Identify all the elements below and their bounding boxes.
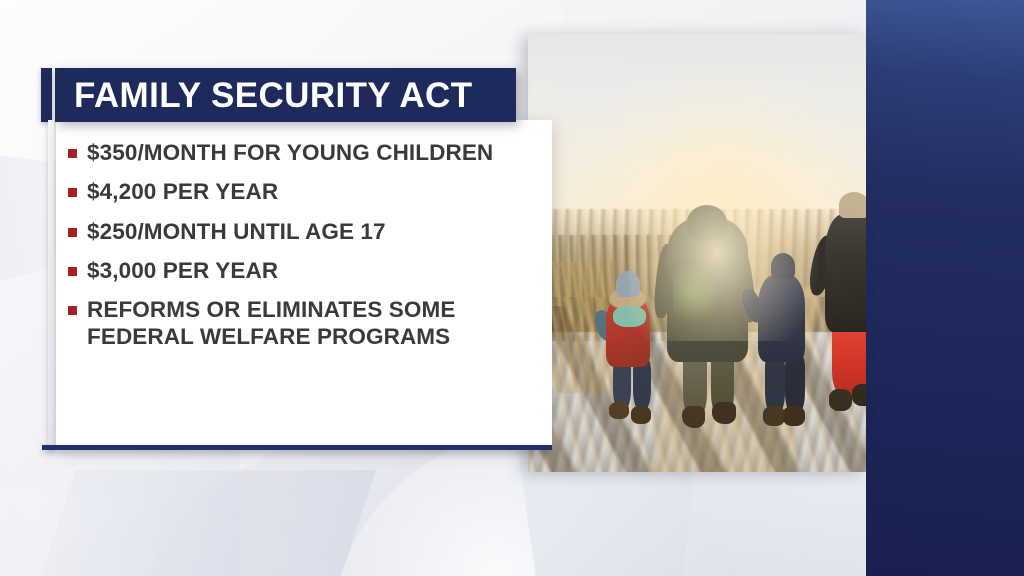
broadcast-graphic-stage: $350/MONTH FOR YOUNG CHILDREN $4,200 PER… (0, 0, 1024, 576)
list-item: $350/MONTH FOR YOUNG CHILDREN (68, 140, 548, 166)
square-bullet-icon (68, 149, 77, 158)
photo-warm-overlay (528, 34, 866, 472)
list-item: $4,200 PER YEAR (68, 179, 548, 205)
bullet-list: $350/MONTH FOR YOUNG CHILDREN $4,200 PER… (68, 140, 548, 363)
list-item-label: REFORMS OR ELIMINATES SOME FEDERAL WELFA… (87, 297, 455, 350)
list-item-label: $3,000 PER YEAR (87, 258, 278, 284)
square-bullet-icon (68, 188, 77, 197)
right-navy-band (866, 0, 1024, 576)
square-bullet-icon (68, 267, 77, 276)
list-item: $3,000 PER YEAR (68, 258, 548, 284)
headline-banner: FAMILY SECURITY ACT (55, 68, 516, 122)
square-bullet-icon (68, 306, 77, 315)
list-item: $250/MONTH UNTIL AGE 17 (68, 219, 548, 245)
list-item: REFORMS OR ELIMINATES SOME FEDERAL WELFA… (68, 297, 548, 350)
left-accent-rail (48, 120, 54, 450)
card-bottom-accent (42, 445, 552, 450)
page-title: FAMILY SECURITY ACT (55, 78, 473, 113)
background-shape-6 (4, 470, 375, 576)
family-photo (528, 34, 866, 472)
list-item-label: $250/MONTH UNTIL AGE 17 (87, 219, 386, 245)
list-item-label: $350/MONTH FOR YOUNG CHILDREN (87, 140, 493, 166)
list-item-label: $4,200 PER YEAR (87, 179, 278, 205)
square-bullet-icon (68, 228, 77, 237)
left-accent-strip (41, 68, 52, 122)
